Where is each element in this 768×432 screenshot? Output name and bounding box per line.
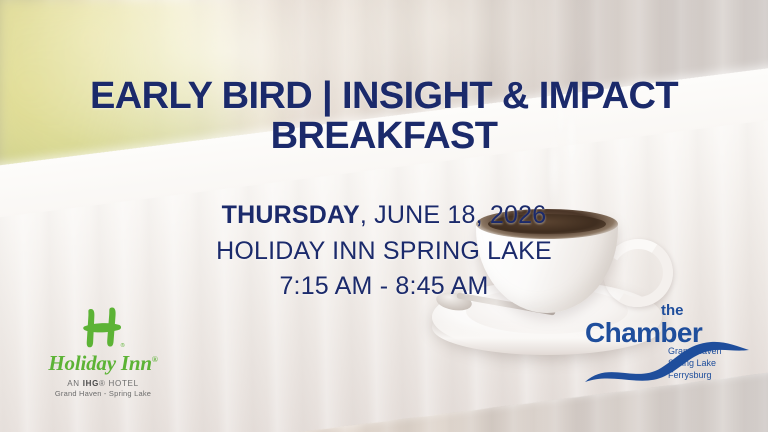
event-date: , JUNE 18, 2026 — [360, 201, 546, 229]
event-details: THURSDAY, JUNE 18, 2026 HOLIDAY INN SPRI… — [0, 198, 768, 305]
event-venue: HOLIDAY INN SPRING LAKE — [0, 234, 768, 270]
event-date-line: THURSDAY, JUNE 18, 2026 — [0, 198, 768, 234]
event-flyer: EARLY BIRD | INSIGHT & IMPACT BREAKFAST … — [0, 0, 768, 432]
holiday-inn-brand-line: AN IHG® HOTEL — [28, 379, 178, 388]
holiday-inn-wordmark: Holiday Inn® — [28, 351, 178, 376]
headline-line-1: EARLY BIRD | INSIGHT & IMPACT — [0, 76, 768, 116]
page-title: EARLY BIRD | INSIGHT & IMPACT BREAKFAST — [0, 76, 768, 157]
holiday-inn-location: Grand Haven - Spring Lake — [28, 389, 178, 398]
chamber-city-3: Ferrysburg — [668, 370, 722, 382]
holiday-inn-h-icon: ® — [79, 306, 126, 350]
event-day: THURSDAY — [222, 201, 360, 229]
svg-text:®: ® — [121, 342, 125, 349]
headline-line-2: BREAKFAST — [0, 116, 768, 156]
chamber-logo: the Chamber Grand Haven Spring Lake Ferr… — [575, 300, 755, 396]
ihg-wordmark: IHG — [83, 379, 99, 388]
chamber-city-2: Spring Lake — [668, 358, 722, 370]
chamber-cities: Grand Haven Spring Lake Ferrysburg — [668, 346, 722, 382]
chamber-city-1: Grand Haven — [668, 346, 722, 358]
holiday-inn-trademark: ® — [152, 355, 158, 364]
holiday-inn-logo: ® Holiday Inn® AN IHG® HOTEL Grand Haven… — [28, 306, 178, 398]
